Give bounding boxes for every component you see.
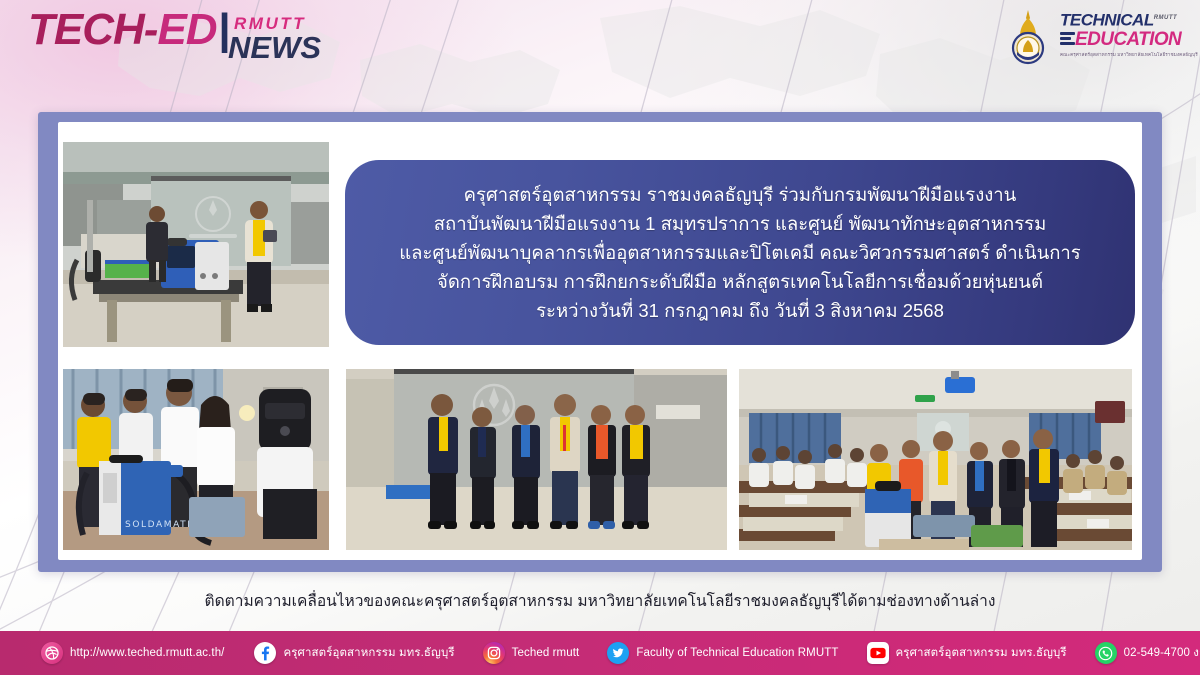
footer-label-phone: 02-549-4700 งานประชาสัมพันธ์ (1124, 644, 1200, 662)
footer-item-youtube[interactable]: ครุศาสตร์อุตสาหกรรม มทร.ธัญบุรี (867, 642, 1067, 664)
follow-caption: ติดตามความเคลื่อนไหวของคณะครุศาสตร์อุตสา… (0, 588, 1200, 613)
phone-icon (1095, 642, 1117, 664)
rmutt-royal-seal-icon (1000, 8, 1056, 66)
website-icon (41, 642, 63, 664)
photo-students-welding-simulator: SOLDAMATIC (63, 369, 329, 550)
footer-social-bar: http://www.teched.rmutt.ac.th/ ครุศาสตร์… (0, 631, 1200, 675)
footer-item-twitter[interactable]: Faculty of Technical Education RMUTT (607, 642, 838, 664)
logo-word-ed: ED (157, 5, 216, 54)
announcement-line-5: ระหว่างวันที่ 31 กรกฎาคม ถึง วันที่ 3 สิ… (363, 296, 1117, 325)
facebook-icon (254, 642, 276, 664)
equal-bars-icon (1060, 32, 1075, 47)
footer-label-youtube: ครุศาสตร์อุตสาหกรรม มทร.ธัญบุรี (896, 644, 1067, 662)
footer-item-phone[interactable]: 02-549-4700 งานประชาสัมพันธ์ (1095, 642, 1200, 664)
logo-word-tech: TECH- (28, 5, 157, 54)
photo-classroom-wide (739, 369, 1132, 550)
footer-item-website[interactable]: http://www.teched.rmutt.ac.th/ (41, 642, 224, 664)
logo-word-news: NEWS (228, 30, 321, 66)
footer-item-facebook[interactable]: ครุศาสตร์อุตสาหกรรม มทร.ธัญบุรี (254, 642, 454, 664)
twitter-icon (607, 642, 629, 664)
announcement-line-2: สถาบันพัฒนาฝีมือแรงงาน 1 สมุทรปราการ และ… (363, 209, 1117, 238)
photo-lecture-room-presenter (63, 142, 329, 347)
announcement-line-3: และศูนย์พัฒนาบุคลากรเพื่ออุตสาหกรรมและปิ… (363, 238, 1117, 267)
footer-label-instagram: Teched rmutt (512, 647, 580, 659)
logo-subline: คณะครุศาสตร์อุตสาหกรรม มหาวิทยาลัยเทคโนโ… (1060, 52, 1184, 59)
logo-line-education: EDUCATION (1060, 30, 1184, 50)
tech-ed-news-logo: TECH-ED| RMUTT NEWS (28, 8, 328, 70)
logo-line-technical-sup: RMUTT (1154, 15, 1178, 21)
announcement-text: ครุศาสตร์อุตสาหกรรม ราชมงคลธัญบุรี ร่วมก… (345, 180, 1135, 325)
announcement-line-1: ครุศาสตร์อุตสาหกรรม ราชมงคลธัญบุรี ร่วมก… (363, 180, 1117, 209)
svg-text:SOLDAMATIC: SOLDAMATIC (125, 520, 199, 530)
youtube-icon (867, 642, 889, 664)
technical-education-wordmark: TECHNICALRMUTT EDUCATION คณะครุศาสตร์อุต… (1060, 10, 1184, 59)
photo-group-officials (346, 369, 727, 550)
news-poster: TECH-ED| RMUTT NEWS TECHNICALRMUTT EDUCA… (0, 0, 1200, 675)
footer-label-facebook: ครุศาสตร์อุตสาหกรรม มทร.ธัญบุรี (283, 644, 454, 662)
logo-line-technical: TECHNICALRMUTT (1060, 10, 1184, 29)
technical-education-logo: TECHNICALRMUTT EDUCATION คณะครุศาสตร์อุต… (994, 4, 1184, 70)
footer-label-twitter: Faculty of Technical Education RMUTT (636, 647, 838, 659)
instagram-icon (483, 642, 505, 664)
announcement-panel: ครุศาสตร์อุตสาหกรรม ราชมงคลธัญบุรี ร่วมก… (345, 160, 1135, 345)
footer-item-instagram[interactable]: Teched rmutt (483, 642, 580, 664)
footer-label-website: http://www.teched.rmutt.ac.th/ (70, 647, 224, 659)
announcement-line-4: จัดการฝึกอบรม การฝึกยกระดับฝีมือ หลักสูต… (363, 267, 1117, 296)
